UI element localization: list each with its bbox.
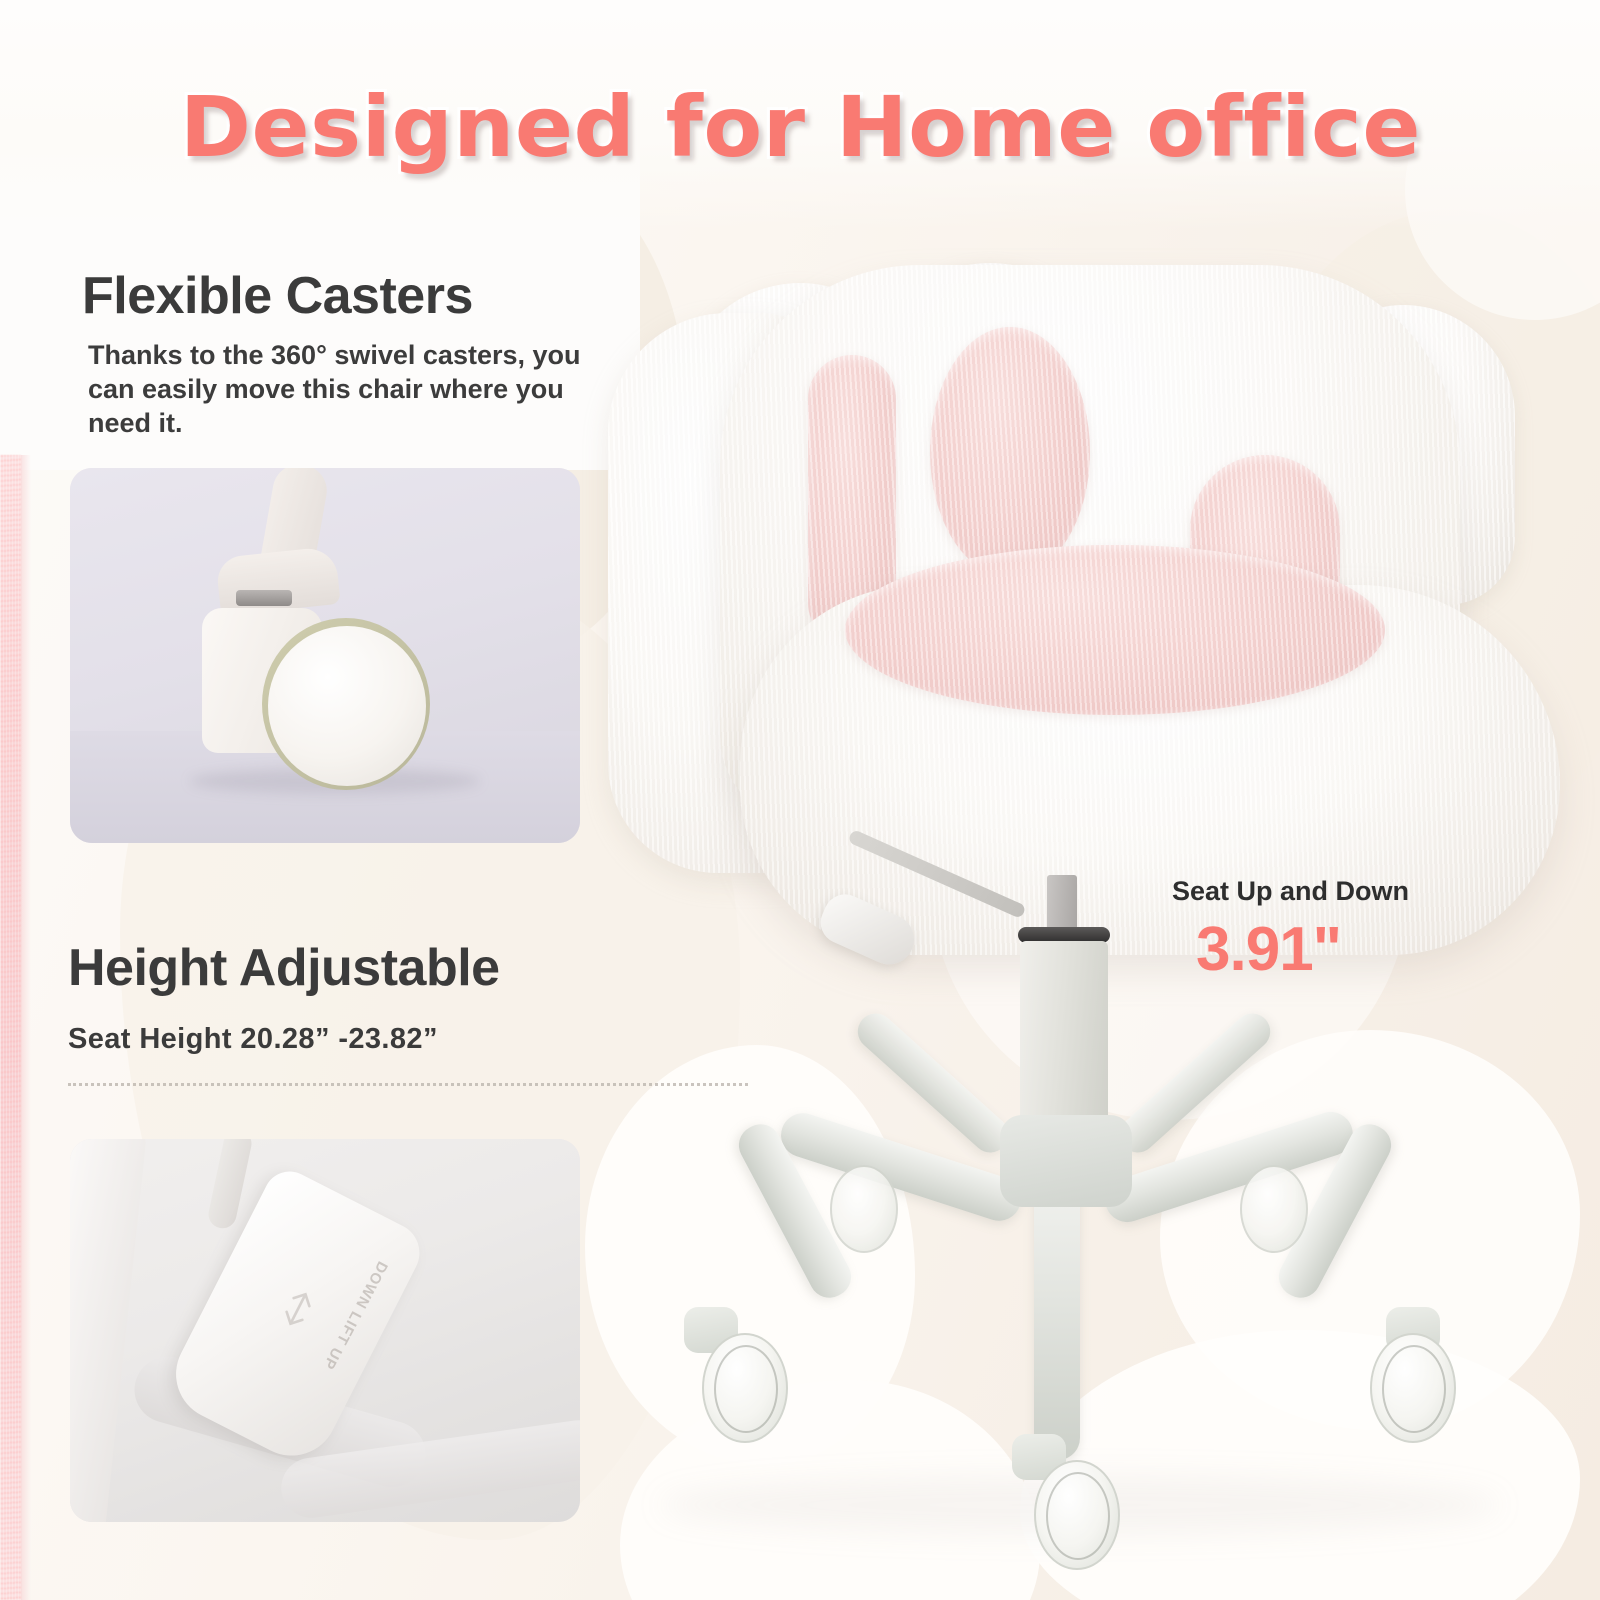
- caster-wheel-rim: [1046, 1472, 1110, 1560]
- photo-caster-closeup: [70, 468, 580, 843]
- gas-cylinder: [1020, 941, 1108, 1141]
- caster-wheel: [1370, 1333, 1456, 1443]
- caster-wheel: [1240, 1165, 1308, 1253]
- section-subtext-seat-height: Seat Height 20.28” -23.82”: [68, 1023, 438, 1056]
- section-body-flexible-casters: Thanks to the 360° swivel casters, you c…: [88, 338, 608, 440]
- section-heading-flexible-casters: Flexible Casters: [82, 266, 473, 326]
- seat-post: [1047, 875, 1077, 935]
- caster-wheel-face: [268, 626, 426, 786]
- paw-seat-cushion: [845, 545, 1385, 715]
- product-image-cat-paw-chair: [600, 255, 1560, 1555]
- infographic-canvas: Designed for Home office Flexible Caster…: [0, 0, 1600, 1600]
- caster-wheel: [1034, 1460, 1120, 1570]
- pink-fur-edge-fade: [21, 455, 31, 1600]
- caster-wheel: [702, 1333, 788, 1443]
- annotation-value-travel: 3.91": [1196, 914, 1341, 985]
- caster-bolt: [236, 590, 292, 606]
- paw-pad-2: [930, 327, 1090, 577]
- pink-fur-edge-strip: [0, 455, 21, 1600]
- page-title: Designed for Home office: [179, 78, 1420, 176]
- annotation-label-seat-up-down: Seat Up and Down: [1172, 876, 1409, 907]
- caster-wheel-rim: [714, 1345, 778, 1433]
- caster-wheel-rim: [1382, 1345, 1446, 1433]
- section-heading-height-adjustable: Height Adjustable: [68, 938, 500, 998]
- base-hub: [1000, 1115, 1132, 1207]
- photo-lever-closeup: DOWN LIFT UP: [70, 1139, 580, 1522]
- caster-wheel: [830, 1165, 898, 1253]
- page-title-wrapper: Designed for Home office: [0, 78, 1600, 176]
